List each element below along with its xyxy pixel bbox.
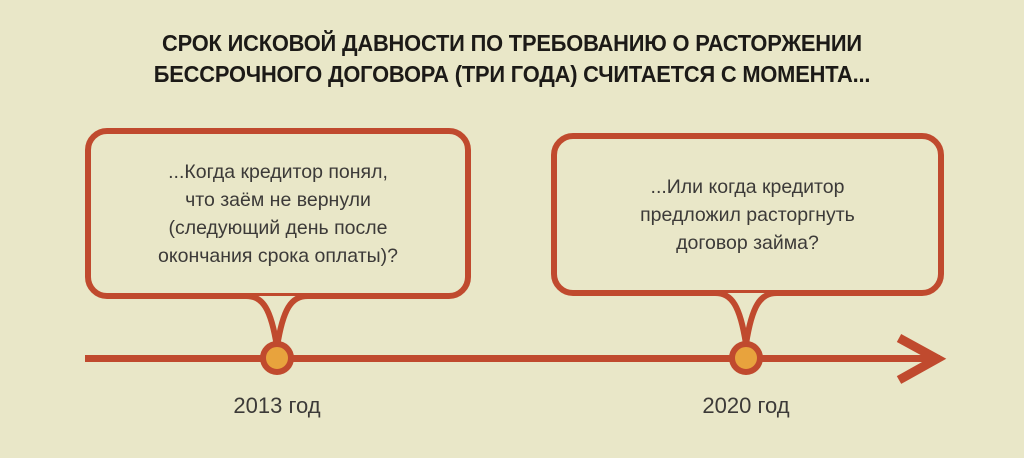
title-line-1: СРОК ИСКОВОЙ ДАВНОСТИ ПО ТРЕБОВАНИЮ О РА… [94,28,931,59]
bubble-1-line-4: окончания срока оплаты)? [158,242,398,270]
title-line-2: БЕССРОЧНОГО ДОГОВОРА (ТРИ ГОДА) СЧИТАЕТС… [94,59,931,90]
timeline-marker-2013[interactable] [260,341,294,375]
speech-bubble-2020: ...Или когда кредитор предложил расторгн… [551,133,944,296]
speech-bubble-2013: ...Когда кредитор понял, что заём не вер… [85,128,471,299]
bubble-1-line-1: ...Когда кредитор понял, [158,158,398,186]
timeline-arrow-icon [893,330,951,388]
speech-bubble-2020-text: ...Или когда кредитор предложил расторгн… [626,173,869,257]
page-title: СРОК ИСКОВОЙ ДАВНОСТИ ПО ТРЕБОВАНИЮ О РА… [94,28,931,90]
speech-bubble-2013-text: ...Когда кредитор понял, что заём не вер… [144,158,412,270]
timeline-axis [85,355,940,362]
bubble-2-line-3: договор займа? [640,229,855,257]
timeline-label-2013: 2013 год [167,393,387,419]
bubble-2-line-1: ...Или когда кредитор [640,173,855,201]
bubble-1-line-2: что заём не вернули [158,186,398,214]
timeline-label-2020: 2020 год [636,393,856,419]
infographic-canvas: СРОК ИСКОВОЙ ДАВНОСТИ ПО ТРЕБОВАНИЮ О РА… [0,0,1024,458]
bubble-2-line-2: предложил расторгнуть [640,201,855,229]
timeline-marker-2020[interactable] [729,341,763,375]
bubble-1-line-3: (следующий день после [158,214,398,242]
